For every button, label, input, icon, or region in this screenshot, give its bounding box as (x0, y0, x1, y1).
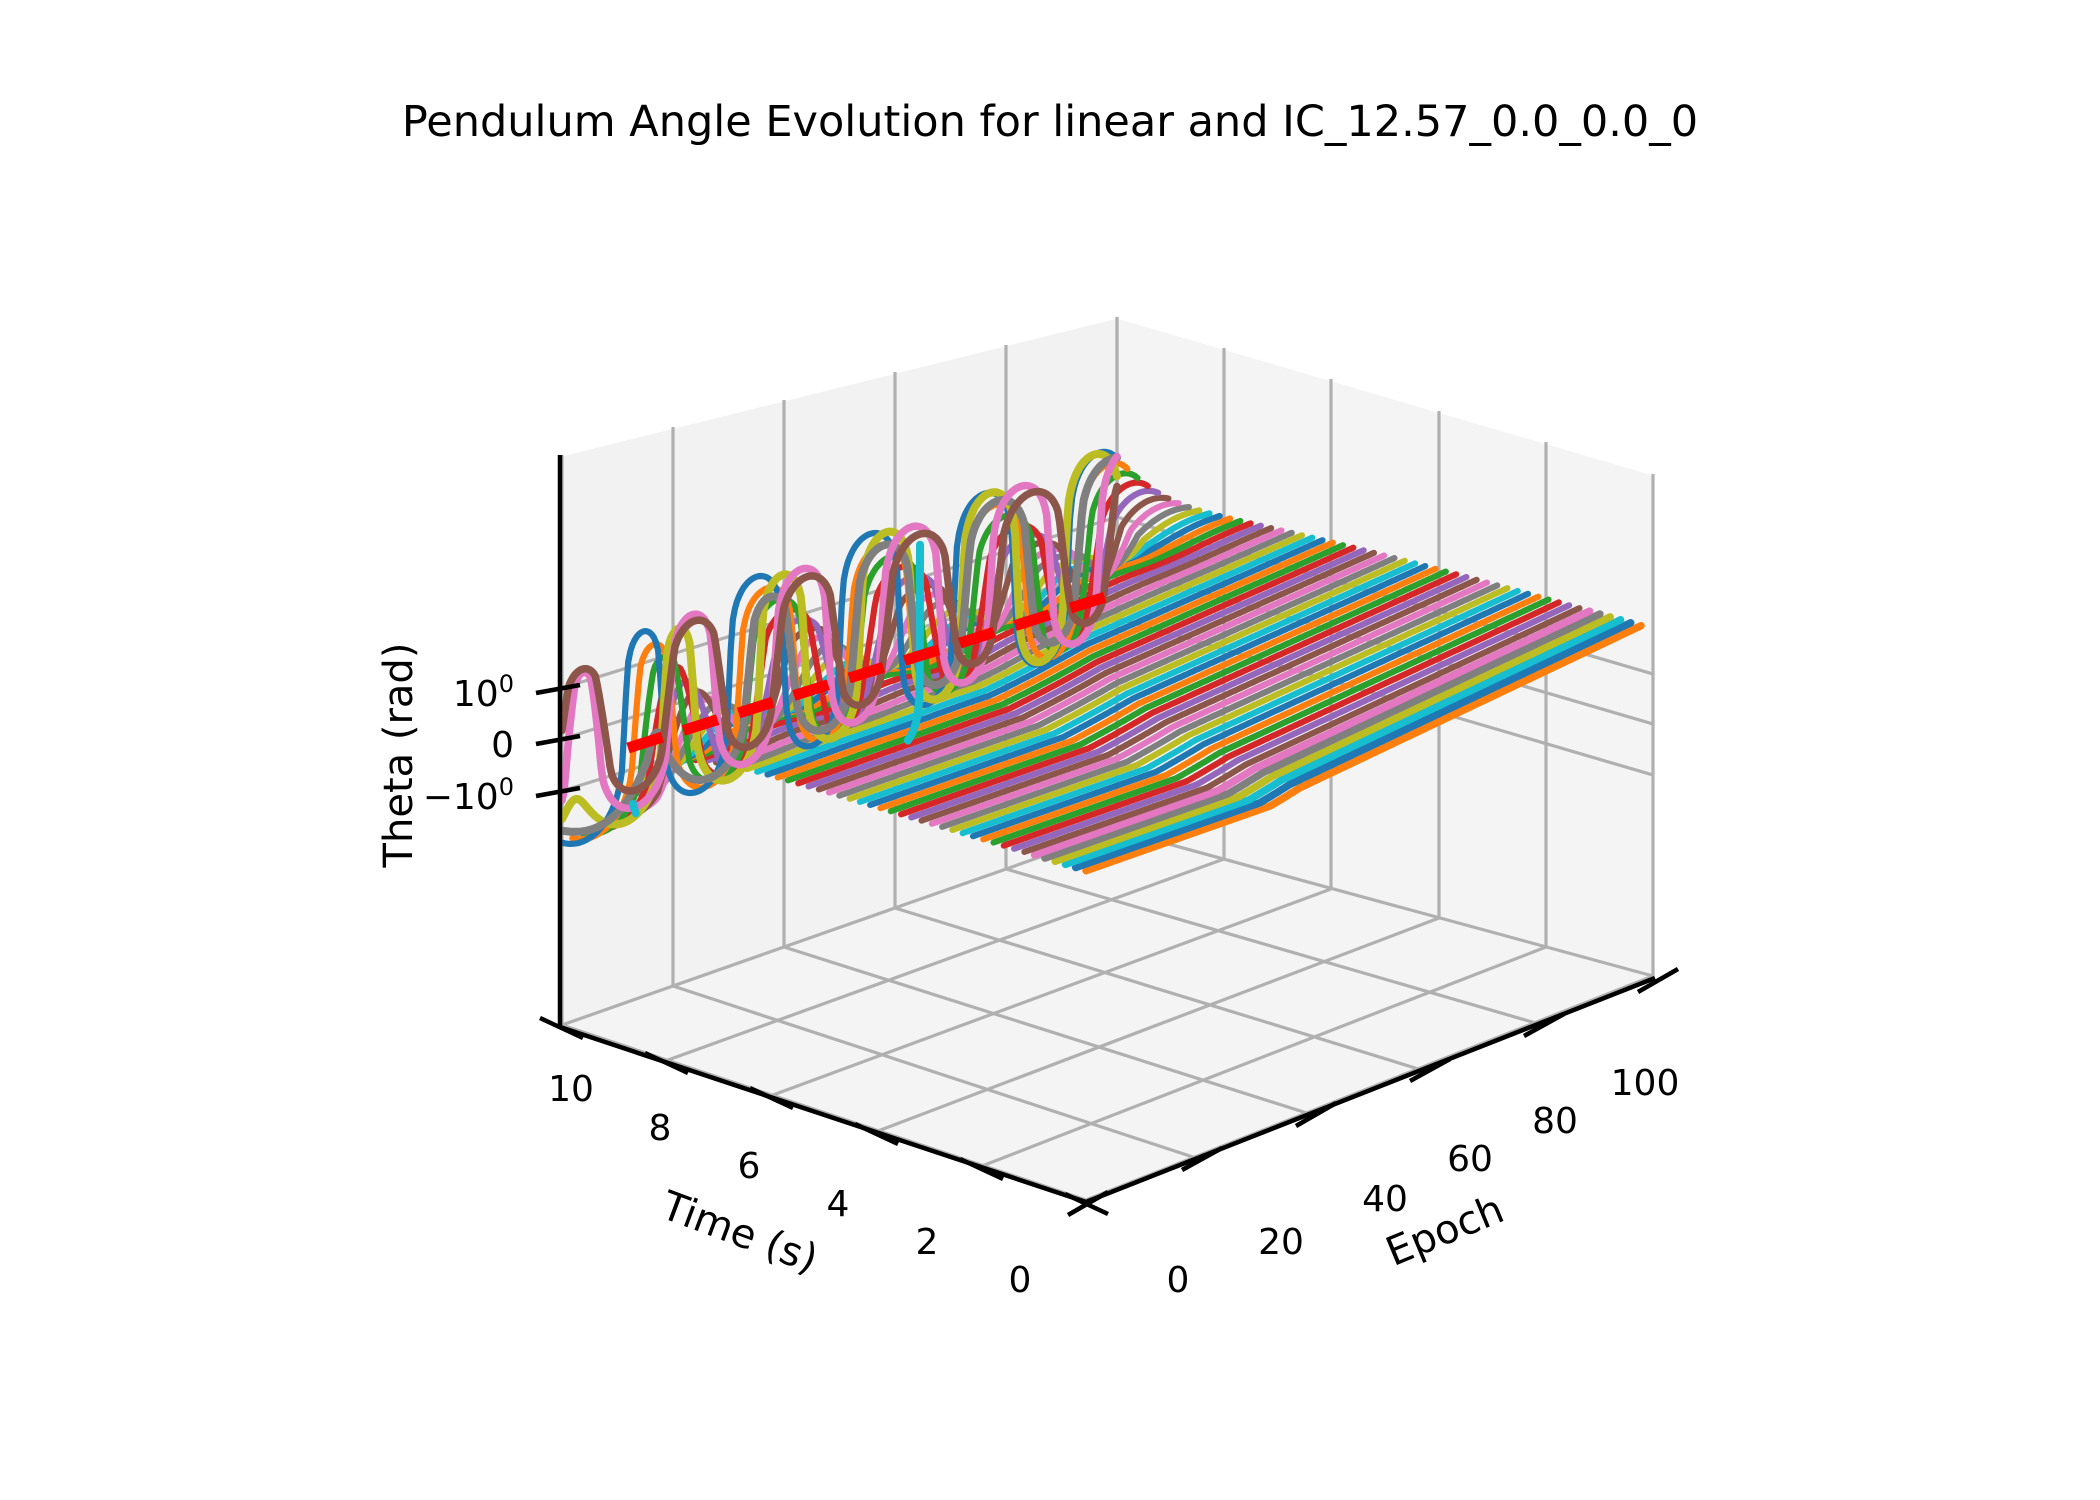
xtick-label-8: 8 (649, 1108, 672, 1149)
axes3d-plot: 100 0 −100 10 8 6 4 2 0 0 20 40 60 80 10… (0, 0, 2100, 1500)
xtick-label-0: 0 (1009, 1260, 1032, 1301)
ytick-label-80: 80 (1532, 1101, 1578, 1142)
ztick-label-pos: 100 (453, 670, 514, 715)
ytick-label-100: 100 (1611, 1063, 1680, 1104)
z-axis-label: Theta (rad) (376, 643, 422, 869)
xtick-label-2: 2 (916, 1222, 939, 1263)
ytick-label-0: 0 (1167, 1260, 1190, 1301)
ytick-label-60: 60 (1447, 1139, 1493, 1180)
xtick-label-10: 10 (548, 1069, 594, 1110)
xtick-label-4: 4 (827, 1184, 850, 1225)
trajectory-line (633, 804, 636, 813)
ztick-label-zero: 0 (491, 725, 514, 766)
z-tick-labels: 100 0 −100 (423, 670, 514, 818)
x-axis-label: Time (s) (654, 1182, 823, 1282)
xtick-label-6: 6 (738, 1146, 761, 1187)
ytick-label-20: 20 (1258, 1222, 1304, 1263)
ytick-label-40: 40 (1362, 1179, 1408, 1220)
ztick-label-neg: −100 (423, 773, 514, 818)
figure-canvas: Pendulum Angle Evolution for linear and … (0, 0, 2100, 1500)
